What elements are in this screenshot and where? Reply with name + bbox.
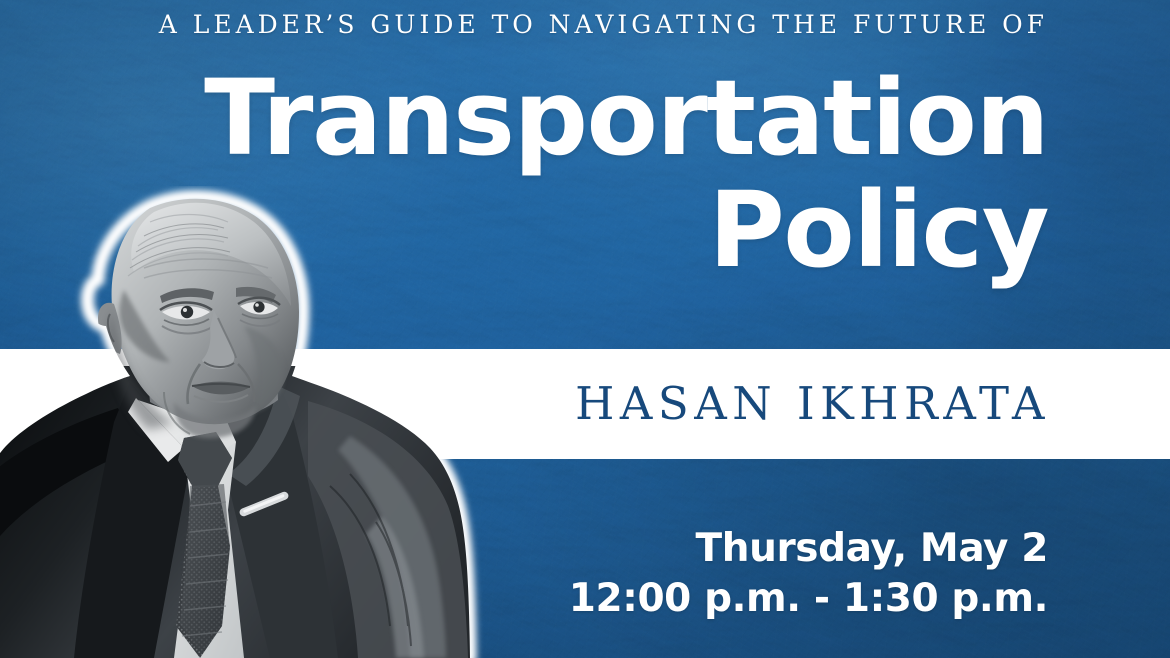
event-promo-poster: A LEADER’S GUIDE TO NAVIGATING THE FUTUR…: [0, 0, 1170, 658]
event-time: 12:00 p.m. - 1:30 p.m.: [0, 574, 1048, 624]
speaker-name: HASAN IKHRATA: [0, 380, 1050, 428]
page-title: Transportation Policy: [0, 62, 1048, 286]
title-line-1: Transportation: [0, 62, 1048, 174]
event-date: Thursday, May 2: [0, 524, 1048, 574]
title-line-2: Policy: [0, 174, 1048, 286]
poster-eyebrow-text: A LEADER’S GUIDE TO NAVIGATING THE FUTUR…: [0, 10, 1048, 39]
event-datetime: Thursday, May 2 12:00 p.m. - 1:30 p.m.: [0, 524, 1048, 624]
